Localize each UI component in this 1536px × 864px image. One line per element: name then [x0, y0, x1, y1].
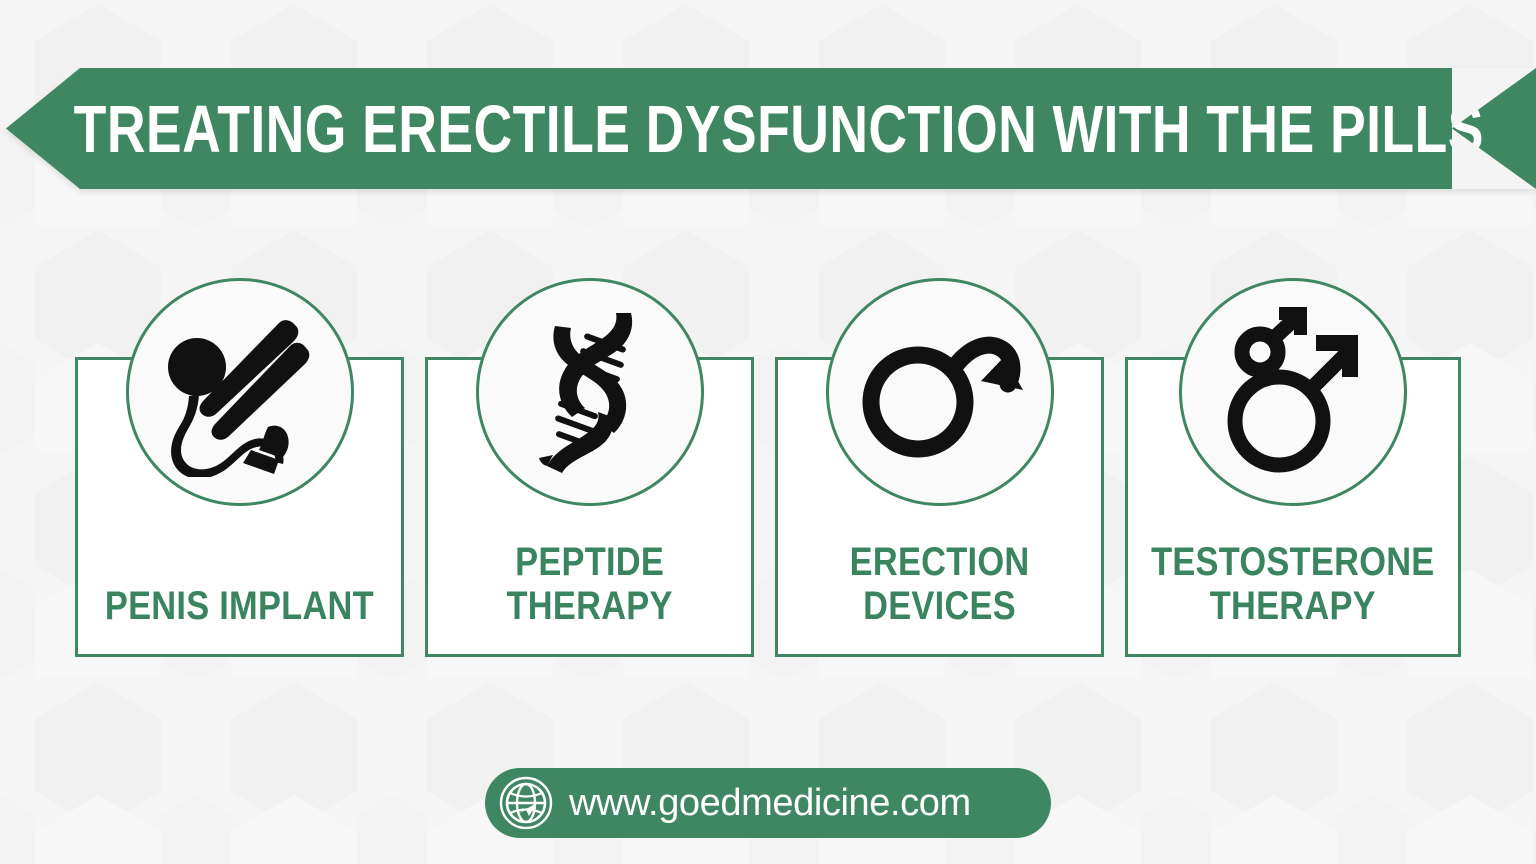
double-male-symbol-icon-badge — [1179, 278, 1407, 506]
banner-shape: TREATING ERECTILE DYSFUNCTION WITH THE P… — [0, 68, 1536, 189]
dna-helix-icon — [515, 307, 665, 477]
dna-helix-icon-badge — [476, 278, 704, 506]
treatment-card-peptide-therapy[interactable]: PEPTIDE THERAPY — [425, 357, 754, 657]
treatment-card-row: PENIS IMPLANT — [75, 357, 1461, 657]
website-url-text: www.goedmedicine.com — [569, 783, 971, 823]
penis-implant-icon — [155, 307, 325, 477]
card-label-penis-implant: PENIS IMPLANT — [105, 584, 374, 628]
card-label-peptide-therapy: PEPTIDE THERAPY — [507, 540, 673, 628]
card-label-erection-devices: ERECTION DEVICES — [850, 540, 1030, 628]
globe-icon — [499, 776, 553, 830]
page-title: TREATING ERECTILE DYSFUNCTION WITH THE P… — [53, 96, 1484, 163]
treatment-card-erection-devices[interactable]: ERECTION DEVICES — [775, 357, 1104, 657]
penis-implant-icon-badge — [126, 278, 354, 506]
banner-right-arrow-tip — [1452, 68, 1536, 189]
treatment-card-penis-implant[interactable]: PENIS IMPLANT — [75, 357, 404, 657]
website-url-pill[interactable]: www.goedmedicine.com — [485, 768, 1051, 838]
double-male-symbol-icon — [1211, 305, 1376, 480]
treatment-card-testosterone-therapy[interactable]: TESTOSTERONE THERAPY — [1125, 357, 1461, 657]
male-symbol-arrow-icon — [855, 317, 1025, 467]
male-symbol-arrow-icon-badge — [826, 278, 1054, 506]
title-banner: TREATING ERECTILE DYSFUNCTION WITH THE P… — [0, 68, 1536, 189]
card-label-testosterone-therapy: TESTOSTERONE THERAPY — [1151, 540, 1434, 628]
